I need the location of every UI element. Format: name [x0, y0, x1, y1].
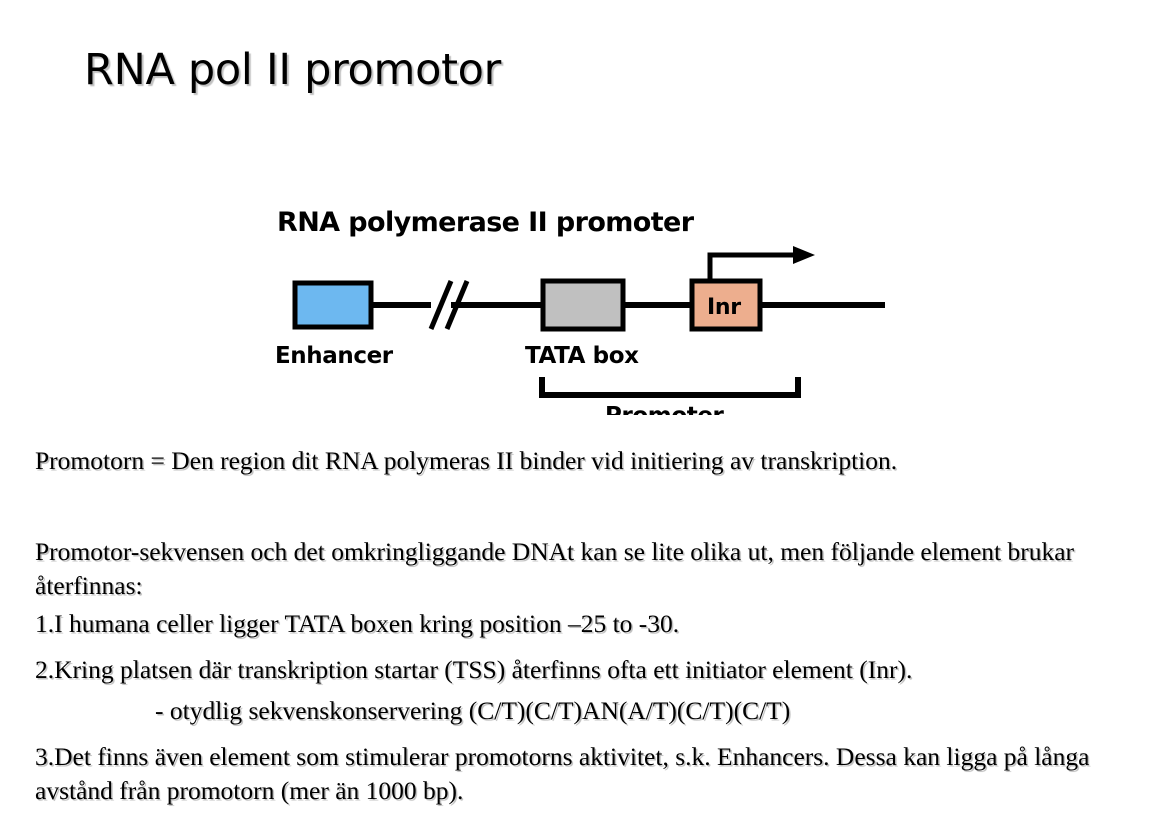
transcription-start-arrow-icon: [710, 246, 815, 281]
promoter-diagram: Enhancer TATA box Inr Promoter: [255, 245, 915, 415]
list-item-sub: - otydlig sekvenskonservering (C/T)(C/T)…: [155, 694, 1135, 728]
intro-paragraph: Promotor-sekvensen och det omkringliggan…: [35, 535, 1095, 602]
definition-paragraph: Promotorn = Den region dit RNA polymeras…: [35, 444, 1125, 478]
promoter-bracket-label: Promoter: [605, 403, 725, 415]
list-item: 3.Det finns även element som stimulerar …: [35, 740, 1130, 807]
tata-box-label: TATA box: [525, 343, 639, 369]
list-item: 2.Kring platsen där transkription starta…: [35, 653, 1125, 687]
figure-title: RNA polymerase II promoter: [277, 207, 693, 238]
list-item: 1.I humana celler ligger TATA boxen krin…: [35, 607, 1125, 641]
promoter-bracket: [539, 377, 801, 395]
tata-box: [543, 281, 623, 329]
enhancer-box: [295, 283, 371, 327]
inr-box-label: Inr: [707, 295, 741, 320]
enhancer-label: Enhancer: [275, 343, 394, 369]
page-title: RNA pol II promotor: [84, 45, 501, 95]
promoter-figure: RNA polymerase II promoter Enhancer TATA…: [0, 195, 1150, 420]
